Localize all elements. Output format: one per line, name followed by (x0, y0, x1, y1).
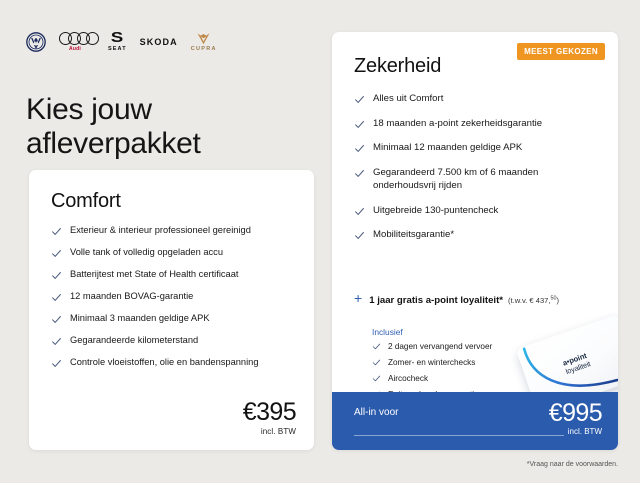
check-icon (51, 336, 62, 347)
list-item-label: Mobiliteitsgarantie* (373, 228, 454, 242)
zekerheid-feature-list: Alles uit Comfort18 maanden a-point zeke… (354, 92, 600, 253)
skoda-logo-label: SKODA (140, 37, 178, 47)
volkswagen-logo-icon (26, 32, 46, 52)
check-icon (51, 270, 62, 281)
list-item-label: Aircocheck (388, 373, 428, 384)
list-item: Controle vloeistoffen, olie en bandenspa… (51, 356, 297, 369)
zekerheid-price-footer: All-in voor €995 incl. BTW (332, 392, 618, 450)
comfort-price-note: incl. BTW (243, 427, 296, 436)
list-item-label: 2 dagen vervangend vervoer (388, 341, 492, 352)
zekerheid-price-note: incl. BTW (549, 427, 602, 436)
list-item: Batterijtest met State of Health certifi… (51, 268, 297, 281)
check-icon (51, 226, 62, 237)
check-icon (354, 94, 365, 105)
loyalty-bonus-label: 1 jaar gratis a-point loyaliteit* (369, 295, 503, 306)
check-icon (354, 168, 365, 179)
list-item: Volle tank of volledig opgeladen accu (51, 246, 297, 259)
check-icon (354, 206, 365, 217)
check-icon (51, 314, 62, 325)
list-item: Gegarandeerde kilometerstand (51, 334, 297, 347)
zekerheid-card-title: Zekerheid (354, 55, 441, 78)
check-icon (51, 292, 62, 303)
cupra-logo-label: CUPRA (191, 46, 217, 52)
list-item: 18 maanden a-point zekerheidsgarantie (354, 117, 600, 131)
check-icon (354, 230, 365, 241)
list-item-label: Gegarandeerd 7.500 km of 6 maanden onder… (373, 166, 600, 193)
comfort-feature-list: Exterieur & interieur professioneel gere… (51, 224, 297, 378)
audi-logo-label: Audi (69, 46, 81, 52)
check-icon (354, 119, 365, 130)
allin-label: All-in voor (354, 407, 398, 418)
list-item-label: Batterijtest met State of Health certifi… (70, 268, 238, 281)
page-footnote: *Vraag naar de voorwaarden. (527, 461, 618, 468)
check-icon (51, 248, 62, 259)
list-item-label: Exterieur & interieur professioneel gere… (70, 224, 251, 237)
list-item: Gegarandeerd 7.500 km of 6 maanden onder… (354, 166, 600, 193)
list-item-label: Zomer- en winterchecks (388, 357, 475, 368)
zekerheid-price: €995 (549, 400, 602, 426)
check-icon (372, 358, 381, 367)
zekerheid-price-block: €995 incl. BTW (549, 400, 602, 436)
check-icon (372, 374, 381, 383)
list-item-label: 12 maanden BOVAG-garantie (70, 290, 193, 303)
comfort-price-block: €395 incl. BTW (243, 399, 296, 436)
list-item: 12 maanden BOVAG-garantie (51, 290, 297, 303)
check-icon (354, 143, 365, 154)
seat-logo-icon: S SEAT (108, 31, 127, 52)
footer-divider (354, 435, 564, 436)
list-item-label: Uitgebreide 130-puntencheck (373, 204, 498, 218)
brand-logo-row: Audi S SEAT SKODA CUPRA (26, 31, 217, 52)
check-icon (372, 342, 381, 351)
list-item-label: Controle vloeistoffen, olie en bandenspa… (70, 356, 259, 369)
list-item: Minimaal 12 maanden geldige APK (354, 141, 600, 155)
list-item: Mobiliteitsgarantie* (354, 228, 600, 242)
skoda-logo-icon: SKODA (140, 37, 178, 47)
list-item: Minimaal 3 maanden geldige APK (51, 312, 297, 325)
comfort-price: €395 (243, 399, 296, 425)
check-icon (51, 358, 62, 369)
list-item-label: 18 maanden a-point zekerheidsgarantie (373, 117, 542, 131)
list-item: Alles uit Comfort (354, 92, 600, 106)
seat-logo-label: SEAT (108, 46, 127, 52)
audi-logo-icon: Audi (59, 32, 95, 52)
list-item: Exterieur & interieur professioneel gere… (51, 224, 297, 237)
plus-icon: + (354, 292, 362, 304)
page-title: Kies jouw afleverpakket (26, 93, 316, 161)
comfort-package-card[interactable]: Comfort Exterieur & interieur profession… (29, 170, 314, 450)
loyalty-bonus-row: + 1 jaar gratis a-point loyaliteit*(t.w.… (354, 290, 604, 308)
loyalty-bonus-value: (t.w.v. € 437,50) (508, 296, 559, 305)
inclusief-label: Inclusief (372, 327, 403, 337)
list-item-label: Volle tank of volledig opgeladen accu (70, 246, 223, 259)
list-item-label: Alles uit Comfort (373, 92, 443, 106)
cupra-logo-icon: CUPRA (191, 32, 217, 52)
status-badge: MEEST GEKOZEN (517, 43, 605, 60)
zekerheid-package-card[interactable]: MEEST GEKOZEN Zekerheid Alles uit Comfor… (332, 32, 618, 450)
comfort-card-title: Comfort (51, 190, 121, 213)
list-item-label: Minimaal 12 maanden geldige APK (373, 141, 522, 155)
list-item-label: Minimaal 3 maanden geldige APK (70, 312, 210, 325)
list-item: Uitgebreide 130-puntencheck (354, 204, 600, 218)
list-item-label: Gegarandeerde kilometerstand (70, 334, 198, 347)
